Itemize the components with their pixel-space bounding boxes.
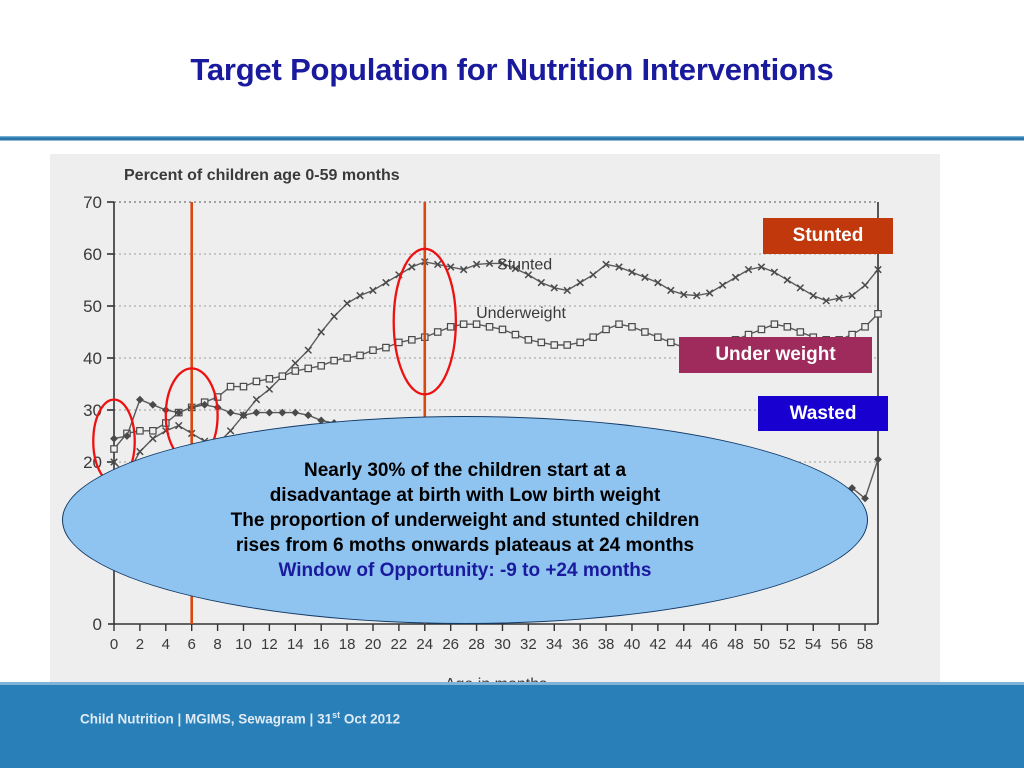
- series-inline-label: Stunted: [497, 257, 552, 274]
- marker-square: [370, 347, 376, 353]
- x-tick-label: 14: [287, 636, 304, 653]
- series-inline-label: Underweight: [476, 305, 566, 322]
- x-tick-label: 54: [805, 636, 822, 653]
- marker-square: [266, 376, 272, 382]
- marker-x: [370, 287, 376, 293]
- x-tick-label: 2: [136, 636, 144, 653]
- marker-x: [655, 279, 661, 285]
- marker-square: [603, 326, 609, 332]
- marker-square: [525, 337, 531, 343]
- x-tick-label: 12: [261, 636, 278, 653]
- x-tick-label: 0: [110, 636, 118, 653]
- x-tick-label: 4: [162, 636, 170, 653]
- marker-square: [512, 331, 518, 337]
- marker-square: [111, 446, 117, 452]
- x-tick-label: 56: [831, 636, 848, 653]
- marker-square: [279, 373, 285, 379]
- marker-square: [137, 428, 143, 434]
- marker-x: [810, 292, 816, 298]
- key-message-callout: Nearly 30% of the children start at a di…: [62, 416, 868, 624]
- marker-x: [357, 292, 363, 298]
- marker-x: [137, 448, 143, 454]
- x-tick-label: 8: [213, 636, 221, 653]
- legend-badge-underweight: Under weight: [679, 337, 872, 373]
- marker-square: [758, 326, 764, 332]
- marker-square: [227, 383, 233, 389]
- marker-square: [240, 383, 246, 389]
- legend-badge-wasted-label: Wasted: [790, 403, 857, 425]
- x-tick-label: 28: [468, 636, 485, 653]
- footer-text: Child Nutrition | MGIMS, Sewagram | 31st…: [80, 710, 400, 727]
- legend-badge-wasted: Wasted: [758, 396, 888, 431]
- marker-square: [253, 378, 259, 384]
- legend-badge-stunted: Stunted: [763, 218, 893, 254]
- marker-square: [305, 365, 311, 371]
- y-tick-label: 60: [83, 245, 102, 264]
- marker-x: [797, 285, 803, 291]
- marker-x: [538, 279, 544, 285]
- marker-square: [396, 339, 402, 345]
- marker-diamond: [150, 402, 156, 408]
- marker-square: [784, 324, 790, 330]
- marker-diamond: [111, 435, 117, 441]
- x-tick-label: 50: [753, 636, 770, 653]
- x-tick-label: 30: [494, 636, 511, 653]
- marker-diamond: [266, 409, 272, 415]
- marker-x: [771, 269, 777, 275]
- callout-line-1: Nearly 30% of the children start at a: [304, 458, 626, 483]
- marker-square: [499, 326, 505, 332]
- footer-text-prefix: Child Nutrition | MGIMS, Sewagram | 31: [80, 712, 332, 727]
- slide: Target Population for Nutrition Interven…: [0, 0, 1024, 768]
- x-tick-label: 44: [675, 636, 692, 653]
- marker-x: [784, 277, 790, 283]
- chart-caption: Percent of children age 0-59 months: [124, 167, 400, 184]
- y-tick-label: 0: [93, 615, 102, 634]
- x-tick-label: 18: [339, 636, 356, 653]
- marker-x: [305, 347, 311, 353]
- marker-x: [253, 396, 259, 402]
- marker-x: [862, 282, 868, 288]
- callout-line-4: rises from 6 moths onwards plateaus at 2…: [236, 533, 694, 558]
- x-tick-label: 46: [701, 636, 718, 653]
- marker-square: [577, 339, 583, 345]
- marker-square: [668, 339, 674, 345]
- marker-square: [150, 428, 156, 434]
- marker-square: [409, 337, 415, 343]
- marker-x: [227, 428, 233, 434]
- x-tick-label: 42: [650, 636, 667, 653]
- marker-square: [590, 334, 596, 340]
- x-tick-label: 6: [188, 636, 196, 653]
- marker-x: [266, 386, 272, 392]
- marker-square: [564, 342, 570, 348]
- marker-x: [150, 435, 156, 441]
- y-tick-label: 40: [83, 349, 102, 368]
- marker-x: [383, 279, 389, 285]
- x-tick-label: 34: [546, 636, 563, 653]
- y-tick-label: 70: [83, 193, 102, 212]
- callout-line-2: disadvantage at birth with Low birth wei…: [270, 483, 661, 508]
- title-divider: [0, 136, 1024, 141]
- x-tick-label: 20: [365, 636, 382, 653]
- marker-square: [538, 339, 544, 345]
- marker-square: [797, 329, 803, 335]
- footer-text-suffix: Oct 2012: [340, 712, 400, 727]
- marker-x: [331, 313, 337, 319]
- x-tick-label: 26: [442, 636, 459, 653]
- marker-x: [732, 274, 738, 280]
- callout-line-3: The proportion of underweight and stunte…: [231, 508, 700, 533]
- marker-diamond: [292, 409, 298, 415]
- marker-x: [642, 274, 648, 280]
- x-tick-label: 48: [727, 636, 744, 653]
- marker-square: [771, 321, 777, 327]
- x-tick-label: 22: [391, 636, 408, 653]
- marker-diamond: [227, 409, 233, 415]
- x-tick-label: 52: [779, 636, 796, 653]
- marker-square: [551, 342, 557, 348]
- x-tick-label: 58: [857, 636, 874, 653]
- marker-x: [590, 272, 596, 278]
- marker-square: [435, 329, 441, 335]
- marker-square: [655, 334, 661, 340]
- marker-square: [629, 324, 635, 330]
- footer-top-edge: [0, 682, 1024, 685]
- marker-square: [862, 324, 868, 330]
- x-tick-label: 38: [598, 636, 615, 653]
- legend-badge-underweight-label: Under weight: [715, 344, 835, 366]
- marker-square: [486, 324, 492, 330]
- marker-square: [460, 321, 466, 327]
- x-tick-label: 10: [235, 636, 252, 653]
- callout-highlight-line: Window of Opportunity: -9 to +24 months: [279, 558, 652, 583]
- marker-diamond: [137, 396, 143, 402]
- marker-square: [292, 368, 298, 374]
- marker-square: [318, 363, 324, 369]
- marker-square: [875, 311, 881, 317]
- legend-badge-stunted-label: Stunted: [793, 225, 864, 247]
- marker-square: [344, 355, 350, 361]
- x-tick-label: 32: [520, 636, 537, 653]
- x-tick-label: 16: [313, 636, 330, 653]
- marker-x: [719, 282, 725, 288]
- marker-x: [409, 264, 415, 270]
- marker-diamond: [305, 412, 311, 418]
- y-tick-label: 50: [83, 297, 102, 316]
- marker-square: [447, 324, 453, 330]
- marker-square: [331, 357, 337, 363]
- footer-ordinal: st: [332, 710, 340, 720]
- x-tick-label: 24: [416, 636, 433, 653]
- marker-x: [577, 279, 583, 285]
- marker-x: [344, 300, 350, 306]
- x-tick-label: 40: [624, 636, 641, 653]
- marker-x: [292, 360, 298, 366]
- marker-x: [629, 269, 635, 275]
- page-title: Target Population for Nutrition Interven…: [0, 52, 1024, 88]
- marker-x: [318, 329, 324, 335]
- marker-square: [383, 344, 389, 350]
- x-tick-label: 36: [572, 636, 589, 653]
- marker-square: [357, 352, 363, 358]
- marker-x: [176, 422, 182, 428]
- marker-square: [616, 321, 622, 327]
- marker-square: [642, 329, 648, 335]
